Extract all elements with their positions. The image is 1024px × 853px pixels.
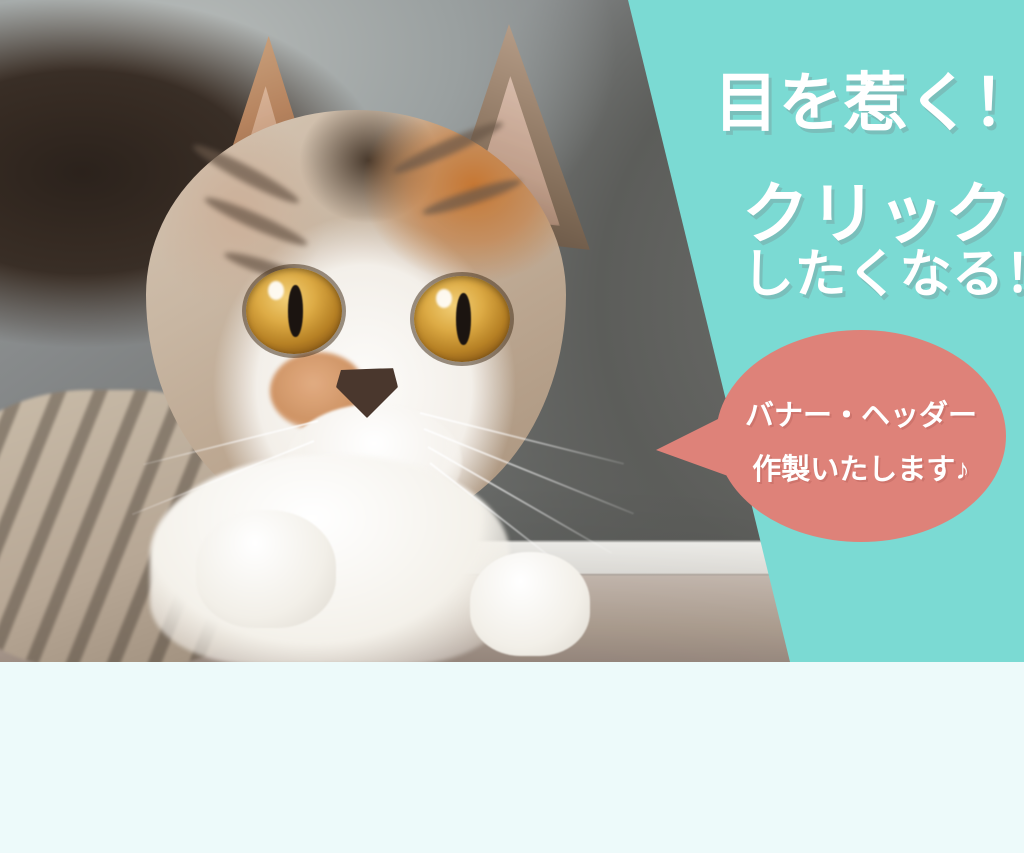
cat-left-pupil: [288, 285, 303, 337]
speech-bubble-line-1: バナー・ヘッダー: [716, 392, 1006, 434]
hero-section: 目を惹く！ クリック したくなる！ バナー・ヘッダー 作製いたします♪: [0, 0, 1024, 662]
headline-line-3: したくなる！: [742, 232, 1024, 307]
speech-bubble: バナー・ヘッダー 作製いたします♪: [716, 330, 1006, 542]
headline-line-1: 目を惹く！: [714, 52, 1024, 144]
promo-banner: 目を惹く！ クリック したくなる！ バナー・ヘッダー 作製いたします♪ お店・個…: [0, 0, 1024, 853]
tag-bar: お店・個人 求人・宣伝 商品画像: [0, 662, 1024, 853]
cat-left-eye: [246, 268, 342, 354]
speech-bubble-line-2: 作製いたします♪: [716, 446, 1006, 488]
cat-right-eye: [414, 276, 510, 362]
cat-right-paw: [470, 552, 590, 656]
cat-left-eye-highlight: [268, 281, 284, 300]
cat-right-eye-highlight: [436, 289, 452, 308]
cat-left-paw: [196, 510, 336, 628]
cat-right-pupil: [456, 293, 471, 345]
